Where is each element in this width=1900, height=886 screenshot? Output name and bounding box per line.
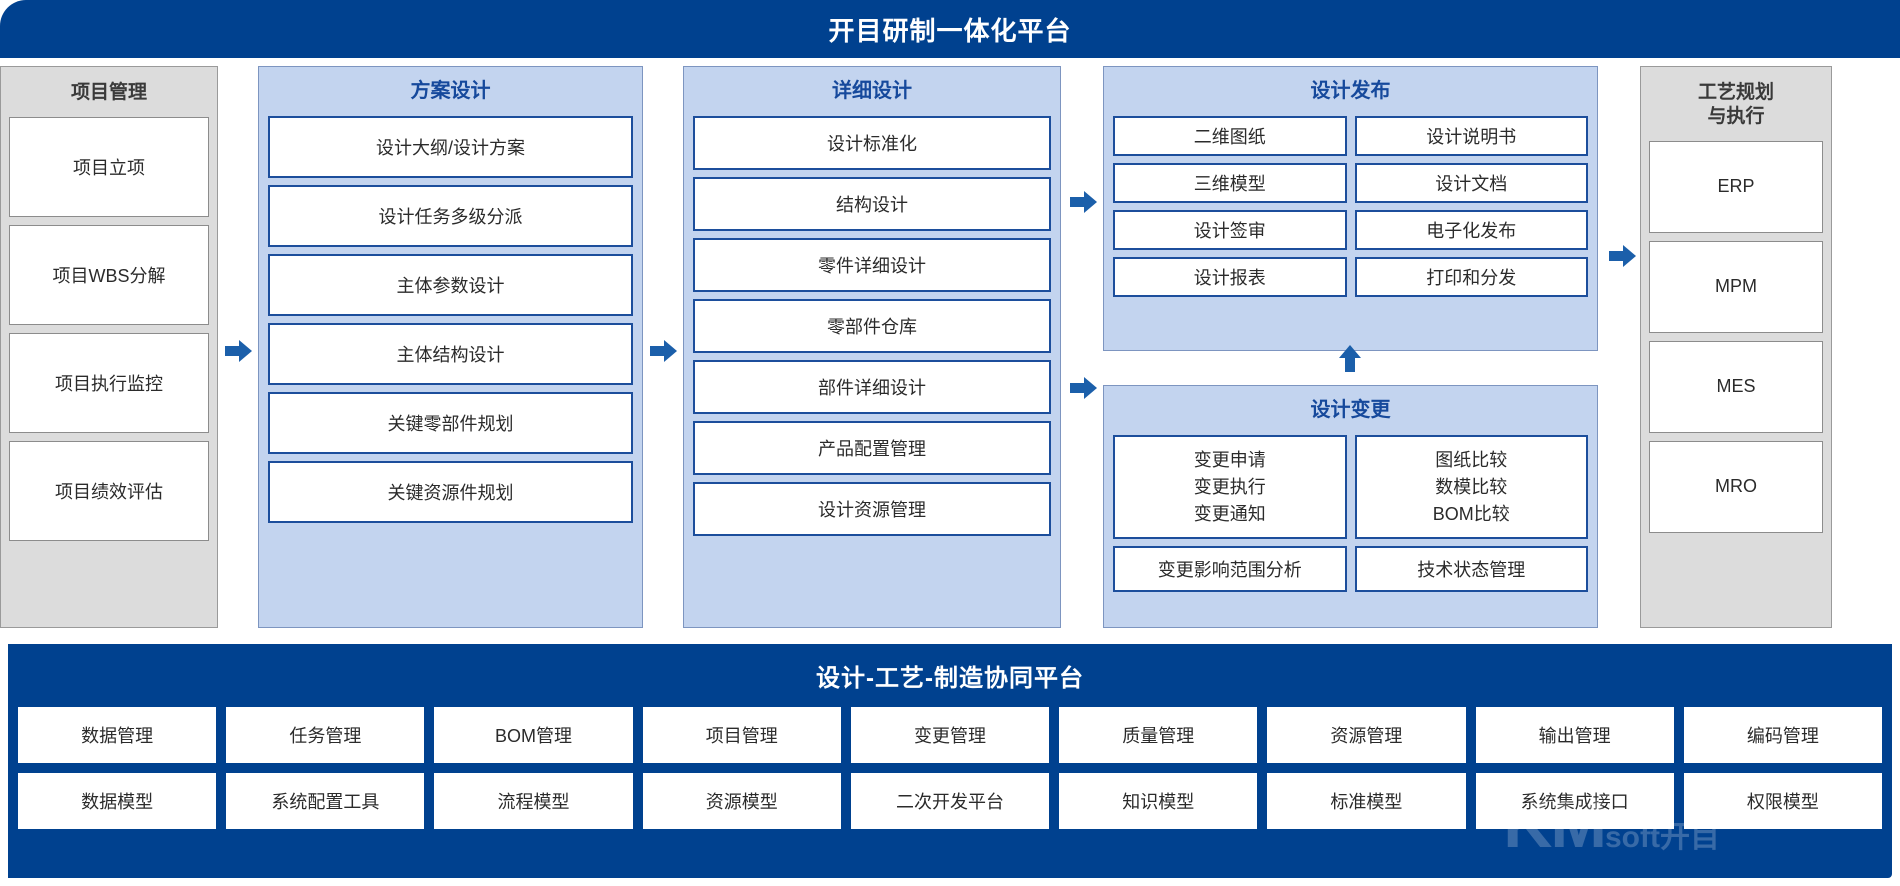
box-design-standardization[interactable]: 设计标准化 (693, 116, 1051, 170)
change-right-column: 图纸比较 数模比较 BOM比较 技术状态管理 (1355, 435, 1589, 592)
box-system-integration-interface[interactable]: 系统集成接口 (1476, 773, 1674, 829)
box-comparison-group[interactable]: 图纸比较 数模比较 BOM比较 (1355, 435, 1589, 539)
collab-row-2: 数据模型 系统配置工具 流程模型 资源模型 二次开发平台 知识模型 标准模型 系… (18, 773, 1882, 829)
collaboration-platform-title: 设计-工艺-制造协同平台 (18, 644, 1882, 707)
change-request-line-1: 变更申请 (1194, 447, 1266, 474)
change-left-column: 变更申请 变更执行 变更通知 变更影响范围分析 (1113, 435, 1347, 592)
box-component-detailed-design[interactable]: 部件详细设计 (693, 360, 1051, 414)
column-title-project-management: 项目管理 (9, 67, 209, 117)
box-data-model[interactable]: 数据模型 (18, 773, 216, 829)
box-mpm[interactable]: MPM (1649, 241, 1823, 333)
box-quality-management[interactable]: 质量管理 (1059, 707, 1257, 763)
box-bom-management[interactable]: BOM管理 (434, 707, 632, 763)
box-key-part-planning[interactable]: 关键零部件规划 (268, 392, 633, 454)
change-grid: 变更申请 变更执行 变更通知 变更影响范围分析 图纸比较 数模比较 BOM比较 … (1113, 435, 1588, 592)
box-project-management[interactable]: 项目管理 (643, 707, 841, 763)
box-task-management[interactable]: 任务管理 (226, 707, 424, 763)
box-part-warehouse[interactable]: 零部件仓库 (693, 299, 1051, 353)
page-title: 开目研制一体化平台 (828, 11, 1071, 48)
column-release-and-change: 设计发布 二维图纸 三维模型 设计签审 设计报表 设计说明书 设计文档 电子化发… (1103, 66, 1598, 628)
column-title-scheme-design: 方案设计 (268, 67, 633, 116)
process-flow: 项目管理 项目立项 项目WBS分解 项目执行监控 项目绩效评估 方案设计 设计大… (0, 66, 1900, 636)
box-main-parameter-design[interactable]: 主体参数设计 (268, 254, 633, 316)
box-change-management[interactable]: 变更管理 (851, 707, 1049, 763)
block-title-design-release: 设计发布 (1113, 67, 1588, 116)
box-permission-model[interactable]: 权限模型 (1684, 773, 1882, 829)
box-secondary-dev-platform[interactable]: 二次开发平台 (851, 773, 1049, 829)
box-erp[interactable]: ERP (1649, 141, 1823, 233)
arrow-slot-3-4 (1061, 66, 1103, 636)
process-title-line-1: 工艺规划 (1649, 81, 1823, 105)
box-change-request-group[interactable]: 变更申请 变更执行 变更通知 (1113, 435, 1347, 539)
box-design-outline[interactable]: 设计大纲/设计方案 (268, 116, 633, 178)
comparison-line-1: 图纸比较 (1435, 447, 1507, 474)
column-process-planning: 工艺规划 与执行 ERP MPM MES MRO (1640, 66, 1832, 628)
release-left-column: 二维图纸 三维模型 设计签审 设计报表 (1113, 116, 1347, 297)
box-knowledge-model[interactable]: 知识模型 (1059, 773, 1257, 829)
box-main-structure-design[interactable]: 主体结构设计 (268, 323, 633, 385)
release-grid: 二维图纸 三维模型 设计签审 设计报表 设计说明书 设计文档 电子化发布 打印和… (1113, 116, 1588, 297)
box-design-resource-management[interactable]: 设计资源管理 (693, 482, 1051, 536)
box-project-initiation[interactable]: 项目立项 (9, 117, 209, 217)
column-project-management: 项目管理 项目立项 项目WBS分解 项目执行监控 项目绩效评估 (0, 66, 218, 628)
block-title-design-change: 设计变更 (1113, 386, 1588, 435)
box-process-model[interactable]: 流程模型 (434, 773, 632, 829)
box-project-wbs[interactable]: 项目WBS分解 (9, 225, 209, 325)
column-title-process-planning: 工艺规划 与执行 (1649, 67, 1823, 141)
box-key-resource-planning[interactable]: 关键资源件规划 (268, 461, 633, 523)
box-design-document[interactable]: 设计文档 (1355, 163, 1589, 203)
box-design-report[interactable]: 设计报表 (1113, 257, 1347, 297)
box-design-specification[interactable]: 设计说明书 (1355, 116, 1589, 156)
box-part-detailed-design[interactable]: 零件详细设计 (693, 238, 1051, 292)
arrow-slot-1 (218, 66, 258, 636)
diagram-page: 开目研制一体化平台 项目管理 项目立项 项目WBS分解 项目执行监控 项目绩效评… (0, 0, 1900, 886)
box-task-assignment[interactable]: 设计任务多级分派 (268, 185, 633, 247)
comparison-line-3: BOM比较 (1433, 501, 1510, 528)
box-resource-management[interactable]: 资源管理 (1267, 707, 1465, 763)
box-print-and-distribute[interactable]: 打印和分发 (1355, 257, 1589, 297)
box-resource-model[interactable]: 资源模型 (643, 773, 841, 829)
box-project-monitoring[interactable]: 项目执行监控 (9, 333, 209, 433)
box-structure-design[interactable]: 结构设计 (693, 177, 1051, 231)
block-design-change: 设计变更 变更申请 变更执行 变更通知 变更影响范围分析 图纸比较 数模比 (1103, 385, 1598, 628)
box-standard-model[interactable]: 标准模型 (1267, 773, 1465, 829)
change-request-line-2: 变更执行 (1194, 474, 1266, 501)
column-detailed-design: 详细设计 设计标准化 结构设计 零件详细设计 零部件仓库 部件详细设计 产品配置… (683, 66, 1061, 628)
block-design-release: 设计发布 二维图纸 三维模型 设计签审 设计报表 设计说明书 设计文档 电子化发… (1103, 66, 1598, 351)
box-change-impact-analysis[interactable]: 变更影响范围分析 (1113, 546, 1347, 592)
arrow-slot-5 (1598, 66, 1640, 636)
release-right-column: 设计说明书 设计文档 电子化发布 打印和分发 (1355, 116, 1589, 297)
comparison-line-2: 数模比较 (1435, 474, 1507, 501)
box-design-approval[interactable]: 设计签审 (1113, 210, 1347, 250)
change-request-line-3: 变更通知 (1194, 501, 1266, 528)
box-project-performance[interactable]: 项目绩效评估 (9, 441, 209, 541)
box-mes[interactable]: MES (1649, 341, 1823, 433)
box-technical-state-management[interactable]: 技术状态管理 (1355, 546, 1589, 592)
box-electronic-release[interactable]: 电子化发布 (1355, 210, 1589, 250)
box-product-config-management[interactable]: 产品配置管理 (693, 421, 1051, 475)
box-data-management[interactable]: 数据管理 (18, 707, 216, 763)
box-2d-drawing[interactable]: 二维图纸 (1113, 116, 1347, 156)
box-system-config-tool[interactable]: 系统配置工具 (226, 773, 424, 829)
arrow-slot-2 (643, 66, 683, 636)
box-output-management[interactable]: 输出管理 (1476, 707, 1674, 763)
box-mro[interactable]: MRO (1649, 441, 1823, 533)
collaboration-platform: 设计-工艺-制造协同平台 数据管理 任务管理 BOM管理 项目管理 变更管理 质… (8, 644, 1892, 878)
collab-row-1: 数据管理 任务管理 BOM管理 项目管理 变更管理 质量管理 资源管理 输出管理… (18, 707, 1882, 763)
column-title-detailed-design: 详细设计 (693, 67, 1051, 116)
box-3d-model[interactable]: 三维模型 (1113, 163, 1347, 203)
process-title-line-2: 与执行 (1649, 105, 1823, 129)
column-scheme-design: 方案设计 设计大纲/设计方案 设计任务多级分派 主体参数设计 主体结构设计 关键… (258, 66, 643, 628)
platform-header: 开目研制一体化平台 (0, 0, 1900, 58)
box-coding-management[interactable]: 编码管理 (1684, 707, 1882, 763)
